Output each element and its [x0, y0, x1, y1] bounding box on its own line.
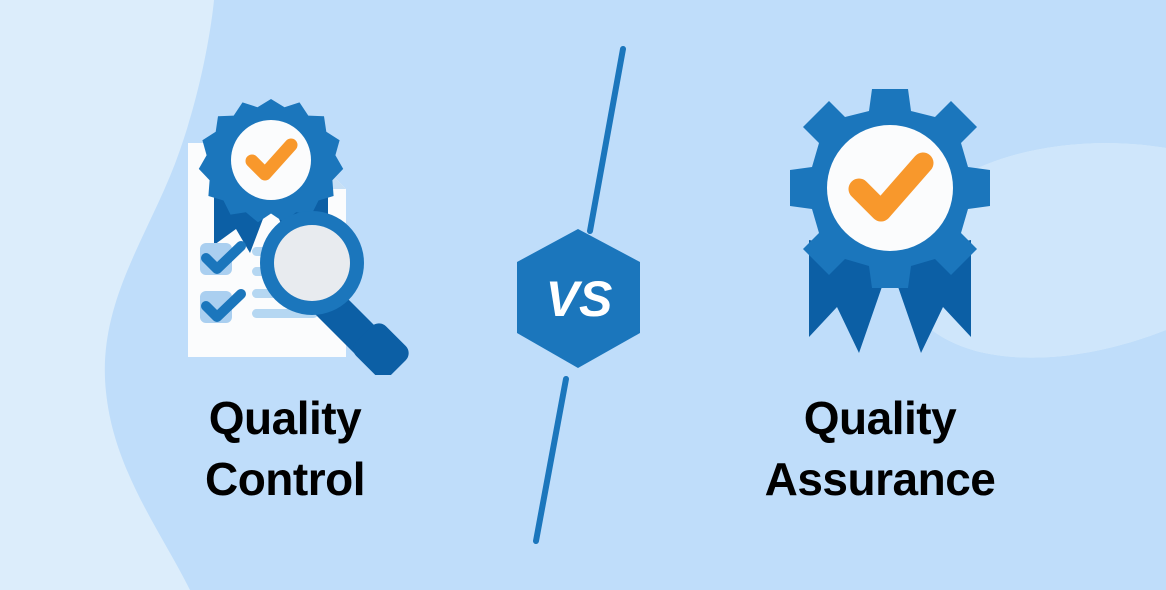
quality-control-icon [160, 95, 430, 375]
quality-control-label: Quality Control [105, 388, 465, 510]
quality-assurance-label: Quality Assurance [700, 388, 1060, 510]
vs-divider: VS [495, 35, 670, 555]
magnifier-lens [274, 225, 350, 301]
quality-assurance-illustration [775, 85, 1005, 370]
quality-control-illustration [160, 95, 430, 375]
qa-label-line-2: Assurance [700, 449, 1060, 510]
vs-badge-text: VS [546, 271, 613, 327]
comparison-graphic: VS Quality Control Quality Assurance [0, 0, 1166, 590]
vs-divider-illustration: VS [495, 35, 670, 555]
gear-cog-shape [790, 89, 990, 288]
diagonal-line-top [590, 49, 623, 231]
qc-label-line-1: Quality [105, 388, 465, 449]
qa-label-line-1: Quality [700, 388, 1060, 449]
diagonal-line-bottom [536, 379, 566, 541]
qc-label-line-2: Control [105, 449, 465, 510]
quality-assurance-icon [775, 85, 1005, 370]
